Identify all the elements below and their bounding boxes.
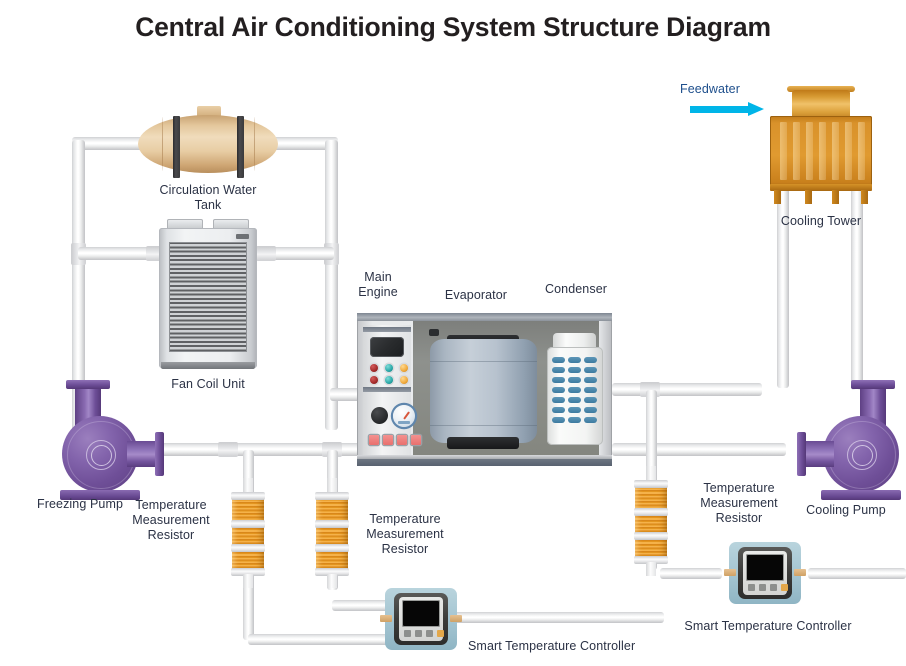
controller-button-active[interactable]	[437, 630, 444, 637]
tank-body	[138, 115, 278, 173]
tower-slat	[793, 122, 800, 180]
coil-band	[231, 520, 265, 528]
controller-button[interactable]	[770, 584, 777, 591]
evaporator-cap-bottom	[447, 437, 519, 449]
engine-button[interactable]	[383, 435, 393, 445]
tank-strap	[173, 116, 180, 178]
evaporator-seam	[430, 361, 537, 362]
tower-leg	[832, 190, 839, 204]
pump-base	[821, 490, 901, 500]
smart-temperature-controller-bottom-label: Smart Temperature Controller	[468, 639, 648, 654]
condenser-tile	[568, 377, 581, 383]
pipe-controller-right-out	[808, 568, 906, 579]
arrow-shaft	[690, 106, 752, 113]
engine-display	[370, 337, 404, 357]
feedwater-arrow-icon	[690, 102, 768, 117]
condenser-tile	[568, 397, 581, 403]
condenser-tile	[552, 357, 565, 363]
indicator-lamp-icon	[370, 376, 378, 384]
tower-leg	[805, 190, 812, 204]
coil-stem	[646, 562, 656, 576]
pump-inlet-flange	[851, 380, 895, 389]
pipe-controller-right-stub	[660, 568, 722, 579]
condenser-tile	[584, 357, 597, 363]
temperature-measurement-resistor-1[interactable]	[231, 490, 265, 572]
condenser-tile	[568, 357, 581, 363]
gauge-base-icon	[398, 421, 410, 424]
tower-leg	[774, 190, 781, 204]
coil-band	[315, 492, 349, 500]
engine-button[interactable]	[369, 435, 379, 445]
condenser-tile	[584, 387, 597, 393]
condenser-tile	[568, 417, 581, 423]
controller-tab-right	[794, 569, 806, 576]
controller-tab-left	[380, 615, 392, 622]
engine-panel-rail	[363, 327, 411, 332]
tower-slat	[806, 122, 813, 180]
tank-seam	[254, 117, 255, 171]
condenser-tile	[568, 367, 581, 373]
coil-band	[315, 544, 349, 552]
indicator-lamp-icon	[400, 376, 408, 384]
condenser-tile	[552, 397, 565, 403]
condenser-tile	[552, 417, 565, 423]
condenser-tile	[584, 417, 597, 423]
pipe-left-loop-right-riser	[325, 140, 338, 430]
condenser-tile	[584, 377, 597, 383]
temperature-measurement-resistor-2-label: Temperature Measurement Resistor	[352, 512, 458, 557]
arrow-head	[748, 102, 764, 116]
temperature-measurement-resistor-1-label: Temperature Measurement Resistor	[118, 498, 224, 543]
pump-outlet-flange	[797, 432, 806, 476]
pipe-collar	[256, 246, 276, 261]
tower-slat	[780, 122, 787, 180]
coil-band	[315, 520, 349, 528]
smart-temperature-controller-right-label: Smart Temperature Controller	[678, 619, 858, 634]
controller-button[interactable]	[759, 584, 766, 591]
pump-shaft-ring-inner	[852, 445, 873, 466]
engine-gauge-icon	[393, 405, 415, 427]
tower-slat	[819, 122, 826, 180]
engine-base	[357, 459, 612, 466]
tower-slat	[845, 122, 852, 180]
evaporator-seam	[430, 425, 537, 426]
cooling-tower[interactable]	[770, 90, 872, 200]
indicator-lamp-icon	[370, 364, 378, 372]
controller-button-active[interactable]	[781, 584, 788, 591]
pipe-bottom-return-lower	[248, 634, 393, 645]
smart-temperature-controller-right[interactable]	[729, 542, 801, 604]
freezing-pump[interactable]	[55, 372, 175, 477]
cooling-pump[interactable]	[786, 372, 906, 477]
pipe-engine-right-upper	[612, 383, 762, 396]
evaporator-body	[430, 339, 537, 443]
evaporator-nozzle	[429, 329, 439, 336]
coil-band	[231, 544, 265, 552]
indicator-lamp-icon	[385, 376, 393, 384]
condenser-tile	[584, 407, 597, 413]
condenser-tile	[584, 397, 597, 403]
tank-seam	[162, 117, 163, 171]
coil-band	[231, 492, 265, 500]
engine-knob[interactable]	[371, 407, 388, 424]
temperature-measurement-resistor-3-label: Temperature Measurement Resistor	[686, 481, 792, 526]
indicator-lamp-icon	[400, 364, 408, 372]
indicator-lamp-icon	[385, 364, 393, 372]
controller-button[interactable]	[404, 630, 411, 637]
coil-band	[634, 480, 668, 488]
engine-panel-rail	[363, 387, 411, 392]
controller-lcd-display	[402, 600, 440, 627]
pump-outlet-flange	[155, 432, 164, 476]
coil-stem	[243, 574, 253, 588]
pipe-controller-right-lead	[452, 612, 664, 623]
fcu-indicator-icon	[236, 234, 249, 239]
coil-stem	[327, 574, 337, 588]
pump-shaft-ring-inner	[91, 445, 112, 466]
condenser-tile	[552, 407, 565, 413]
tower-slat	[858, 122, 865, 180]
condenser-tile	[552, 377, 565, 383]
evaporator-label: Evaporator	[430, 288, 522, 303]
condenser-tile	[568, 387, 581, 393]
condenser-tile	[552, 367, 565, 373]
engine-button[interactable]	[397, 435, 407, 445]
smart-temperature-controller-bottom[interactable]	[385, 588, 457, 650]
fan-coil-unit[interactable]	[159, 228, 257, 368]
cooling-pump-label: Cooling Pump	[786, 503, 906, 518]
coil-band	[634, 532, 668, 540]
circulation-water-tank[interactable]	[138, 115, 278, 173]
condenser-label: Condenser	[530, 282, 622, 297]
controller-button[interactable]	[415, 630, 422, 637]
tank-strap	[237, 116, 244, 178]
cooling-tower-label: Cooling Tower	[762, 214, 880, 229]
tower-slat	[832, 122, 839, 180]
main-engine[interactable]	[357, 313, 612, 466]
fcu-base	[161, 362, 255, 369]
condenser-tile	[584, 367, 597, 373]
feedwater-label: Feedwater	[660, 82, 760, 97]
pipe-engine-to-cooling-pump	[612, 443, 786, 456]
page-title: Central Air Conditioning System Structur…	[0, 12, 906, 43]
coil-band	[634, 508, 668, 516]
engine-button[interactable]	[411, 435, 421, 445]
controller-tab-right	[450, 615, 462, 622]
temperature-measurement-resistor-2[interactable]	[315, 490, 349, 572]
gauge-needle-icon	[403, 411, 410, 419]
controller-tab-left	[724, 569, 736, 576]
tower-sill	[770, 184, 872, 191]
circulation-water-tank-label: Circulation Water Tank	[143, 183, 273, 213]
pump-inlet-flange	[66, 380, 110, 389]
diagram-canvas: Central Air Conditioning System Structur…	[0, 0, 906, 666]
condenser-tile	[552, 387, 565, 393]
condenser-tile	[568, 407, 581, 413]
temperature-measurement-resistor-3[interactable]	[634, 478, 668, 560]
controller-button[interactable]	[748, 584, 755, 591]
fcu-louvers	[169, 242, 247, 352]
tower-leg	[861, 190, 868, 204]
main-engine-label: Main Engine	[340, 270, 416, 300]
engine-top-rail	[357, 313, 612, 321]
controller-lcd-display	[746, 554, 784, 581]
pipe-collar	[218, 442, 238, 457]
controller-button[interactable]	[426, 630, 433, 637]
